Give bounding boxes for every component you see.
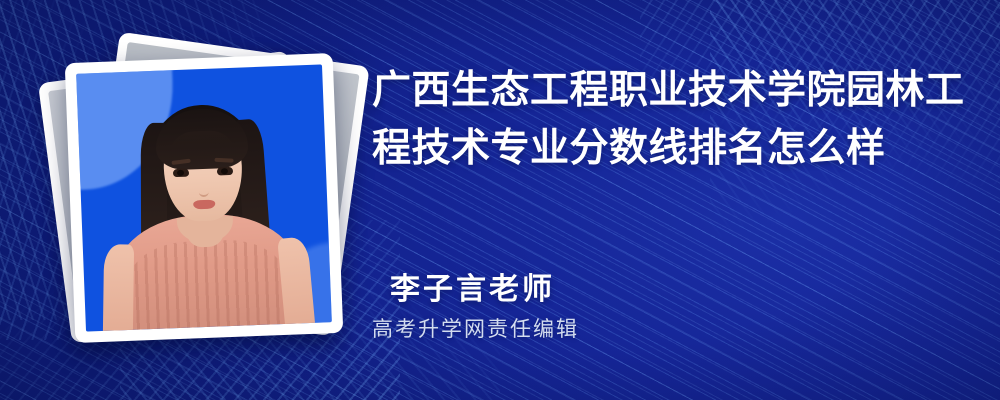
photo-frame-front — [65, 53, 344, 343]
article-header-banner: 广西生态工程职业技术学院园林工 程技术专业分数线排名怎么样 李子言老师 高考升学… — [0, 0, 1000, 400]
eye-right — [217, 167, 233, 176]
portrait-subject — [76, 64, 332, 331]
eye-left — [173, 169, 189, 178]
page-title-line-1: 广西生态工程职业技术学院园林工 — [372, 62, 972, 120]
portrait-photo — [76, 64, 332, 331]
arm-left — [103, 244, 134, 331]
headline-block: 广西生态工程职业技术学院园林工 程技术专业分数线排名怎么样 — [372, 62, 972, 178]
byline-block: 李子言老师 高考升学网责任编辑 — [390, 270, 950, 346]
photo-stack — [52, 40, 352, 360]
author-role: 高考升学网责任编辑 — [372, 314, 950, 346]
author-name: 李子言老师 — [390, 270, 950, 310]
page-title-line-2: 程技术专业分数线排名怎么样 — [372, 120, 972, 178]
eyebrow-right — [214, 158, 233, 163]
nose — [198, 181, 209, 197]
